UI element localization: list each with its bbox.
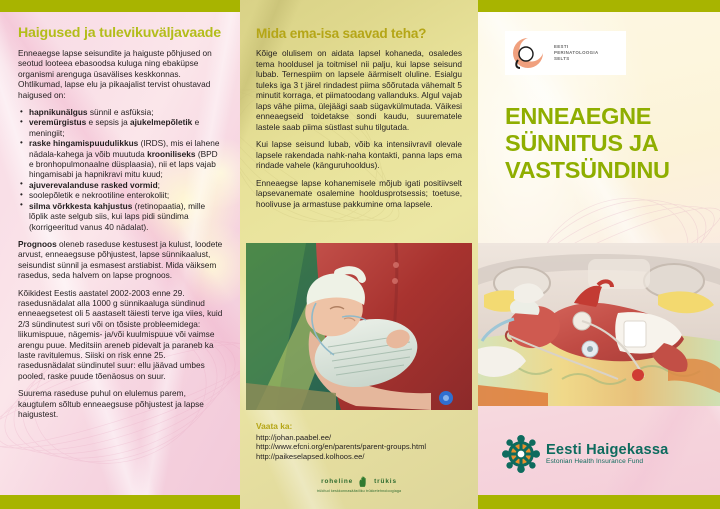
green-hand-icon bbox=[357, 475, 370, 488]
emphasised-term: hapnikunälgus bbox=[29, 107, 88, 117]
disease-list-item: silma võrkkesta kahjustus (retinopaatia)… bbox=[29, 201, 224, 232]
panel-left-paragraph: Kõikidest Eestis aastatel 2002-2003 enne… bbox=[18, 288, 224, 382]
health-insurance-fund-subtitle: Estonian Health Insurance Fund bbox=[546, 458, 668, 466]
top-accent-bar-right bbox=[478, 0, 720, 12]
emphasised-term: Prognoos bbox=[18, 239, 57, 249]
disease-list-item: soolepõletik e nekrootiline enterokoliit… bbox=[29, 190, 224, 200]
see-also-label: Vaata ka: bbox=[256, 422, 466, 432]
top-accent-bar-left bbox=[0, 0, 240, 12]
eco-word-left: roheline bbox=[321, 478, 353, 485]
brochure-title-line-2: SÜNNITUS JA bbox=[505, 130, 715, 157]
logo-health-insurance-fund: Eesti Haigekassa Estonian Health Insuran… bbox=[502, 435, 668, 473]
health-insurance-fund-mark-icon bbox=[502, 435, 540, 473]
see-also-link[interactable]: http://paikeselapsed.kolhoos.ee/ bbox=[256, 452, 466, 462]
emphasised-term: silma võrkkesta kahjustus bbox=[29, 201, 132, 211]
panel-left-paragraph: Prognoos oleneb raseduse kestusest ja ku… bbox=[18, 239, 224, 281]
panel-left: Haigused ja tulevikuväljavaade Enneaegse… bbox=[0, 0, 240, 509]
panel-middle-paragraph: Kui lapse seisund lubab, võib ka intensi… bbox=[256, 139, 462, 171]
logo-perinatology-society: EESTI PERINATOLOOGIA SELTS bbox=[505, 31, 626, 75]
emphasised-term: ajukelmepõletik bbox=[130, 117, 192, 127]
panel-left-paragraphs: Prognoos oleneb raseduse kestusest ja ku… bbox=[18, 239, 224, 420]
panel-middle-content: Mida ema-isa saavad teha? Kõige olulisem… bbox=[256, 26, 462, 216]
photo-incubator-newborn bbox=[478, 243, 720, 406]
perinatology-society-name: EESTI PERINATOLOOGIA SELTS bbox=[554, 44, 599, 63]
emphasised-term: veremürgistus bbox=[29, 117, 86, 127]
emphasised-term: ajuverevalanduse rasked vormid bbox=[29, 180, 158, 190]
photo-kangaroo-care-image bbox=[246, 243, 472, 410]
body-text-run: ; bbox=[158, 180, 160, 190]
disease-list-item: ajuverevalanduse rasked vormid; bbox=[29, 180, 224, 190]
bottom-accent-bar-right bbox=[478, 495, 720, 509]
panel-middle-paragraph: Enneaegse lapse kohanemisele mõjub igati… bbox=[256, 178, 462, 210]
see-also-link[interactable]: http://www.efcni.org/en/parents/parent-g… bbox=[256, 442, 466, 452]
see-also-link[interactable]: http://johan.paabel.ee/ bbox=[256, 433, 466, 443]
eco-print-mark-row: roheline trükis bbox=[279, 475, 439, 488]
eco-print-subline: trükitud keskkonnasäästliku trükketehnol… bbox=[279, 489, 439, 493]
bottom-accent-bar-left bbox=[0, 495, 240, 509]
body-text-run: e sepsis ja bbox=[86, 117, 130, 127]
brochure-title-line-1: ENNEAEGNE bbox=[505, 103, 715, 130]
brochure-title-line-3: VASTSÜNDINU bbox=[505, 157, 715, 184]
panel-middle-heading: Mida ema-isa saavad teha? bbox=[256, 26, 462, 41]
disease-list-item: hapnikunälgus sünnil e asfüksia; bbox=[29, 107, 224, 117]
body-text-run: Suurema raseduse puhul on elulemus parem… bbox=[18, 388, 204, 419]
body-text-run: soolepõletik e nekrootiline enterokoliit… bbox=[29, 190, 169, 200]
panel-middle-paragraphs: Kõige olulisem on aidata lapsel kohaneda… bbox=[256, 48, 462, 209]
brochure-page: Haigused ja tulevikuväljavaade Enneaegse… bbox=[0, 0, 720, 509]
panel-left-paragraph: Suurema raseduse puhul on elulemus parem… bbox=[18, 388, 224, 419]
body-text-run: sünnil e asfüksia; bbox=[88, 107, 154, 117]
health-insurance-fund-name: Eesti Haigekassa bbox=[546, 442, 668, 458]
disease-list-item: raske hingamispuudulikkus (IRDS), mis ei… bbox=[29, 138, 224, 180]
panel-left-intro: Enneaegse lapse seisundite ja haiguste p… bbox=[18, 48, 224, 100]
photo-incubator-newborn-image bbox=[478, 243, 720, 406]
perinatology-society-mark-icon bbox=[509, 35, 549, 71]
body-text-run: Kõikidest Eestis aastatel 2002-2003 enne… bbox=[18, 288, 222, 381]
emphasised-term: raske hingamispuudulikkus bbox=[29, 138, 138, 148]
panel-left-content: Haigused ja tulevikuväljavaade Enneaegse… bbox=[18, 26, 224, 426]
brochure-title: ENNEAEGNE SÜNNITUS JA VASTSÜNDINU bbox=[505, 103, 715, 184]
panel-right: EESTI PERINATOLOOGIA SELTS ENNEAEGNE SÜN… bbox=[478, 0, 720, 509]
panel-left-heading: Haigused ja tulevikuväljavaade bbox=[18, 26, 224, 41]
eco-word-right: trükis bbox=[374, 478, 397, 485]
health-insurance-fund-wordmark: Eesti Haigekassa Estonian Health Insuran… bbox=[546, 442, 668, 466]
disease-list: hapnikunälgus sünnil e asfüksia;veremürg… bbox=[18, 107, 224, 232]
emphasised-term: krooniliseks bbox=[147, 149, 195, 159]
photo-kangaroo-care bbox=[246, 243, 472, 410]
disease-list-item: veremürgistus e sepsis ja ajukelmepõleti… bbox=[29, 117, 224, 138]
eps-line-3: SELTS bbox=[554, 56, 599, 62]
panel-middle-paragraph: Kõige olulisem on aidata lapsel kohaneda… bbox=[256, 48, 462, 132]
eco-print-mark: roheline trükis trükitud keskkonnasäästl… bbox=[279, 475, 439, 494]
see-also-links: Vaata ka: http://johan.paabel.ee/http://… bbox=[256, 422, 466, 461]
panel-middle: Mida ema-isa saavad teha? Kõige olulisem… bbox=[240, 0, 478, 509]
